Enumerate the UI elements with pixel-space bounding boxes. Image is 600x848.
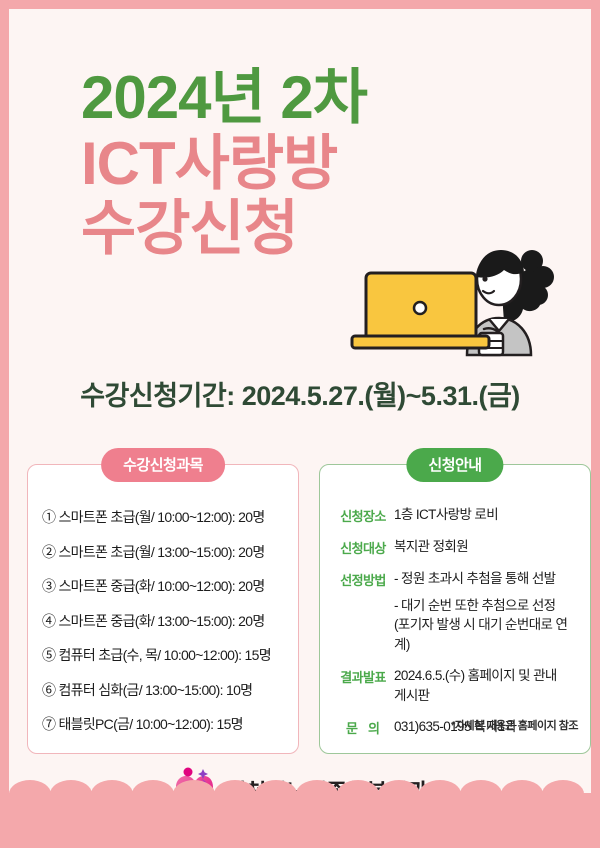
application-period: 수강신청기간: 2024.5.27.(월)~5.31.(금): [9, 374, 591, 413]
courses-panel: 수강신청과목 ① 스마트폰 초급(월/ 10:00~12:00): 20명 ② …: [27, 464, 299, 754]
info-row-target: 신청대상 복지관 정회원: [332, 537, 582, 557]
scallop-row: [9, 780, 591, 808]
info-panel-badge: 신청안내: [406, 448, 503, 482]
courses-panel-badge: 수강신청과목: [101, 448, 225, 482]
list-item: ③ 스마트폰 중급(화/ 10:00~12:00): 20명: [42, 576, 288, 596]
list-item: ⑦ 태블릿PC(금/ 10:00~12:00): 15명: [42, 714, 288, 734]
info-value: 1층 ICT사랑방 로비: [394, 505, 582, 525]
list-item: ④ 스마트폰 중급(화/ 13:00~15:00): 20명: [42, 611, 288, 631]
course-list: ① 스마트폰 초급(월/ 10:00~12:00): 20명 ② 스마트폰 초급…: [42, 507, 288, 749]
list-item: ⑤ 컴퓨터 초급(수, 목/ 10:00~12:00): 15명: [42, 645, 288, 665]
poster-inner: 2024년 2차 ICT사랑방 수강신청: [9, 9, 591, 839]
info-value-line: 복지관 정회원: [394, 539, 468, 554]
info-label: 문의: [332, 717, 394, 737]
info-label: 선정방법: [332, 569, 394, 654]
info-row-location: 신청장소 1층 ICT사랑방 로비: [332, 505, 582, 525]
info-value-line: - 대기 순번 또한 추첨으로 선정: [394, 596, 582, 616]
info-value-line: 1층 ICT사랑방 로비: [394, 507, 498, 522]
info-value: 2024.6.5.(수) 홈페이지 및 관내 게시판: [394, 666, 582, 705]
list-item: ② 스마트폰 초급(월/ 13:00~15:00): 20명: [42, 542, 288, 562]
info-label: 신청대상: [332, 537, 394, 557]
list-item: ① 스마트폰 초급(월/ 10:00~12:00): 20명: [42, 507, 288, 527]
info-value-line: (포기자 발생 시 대기 순번대로 연계): [394, 615, 582, 654]
corner-notch: [9, 15, 23, 43]
person-using-laptop-illustration: [349, 237, 571, 357]
headline: 2024년 2차 ICT사랑방 수강신청: [81, 69, 511, 258]
poster: 2024년 2차 ICT사랑방 수강신청: [0, 0, 600, 848]
info-value: 복지관 정회원: [394, 537, 582, 557]
headline-line-2: ICT사랑방: [81, 135, 511, 193]
info-row-selection: 선정방법 - 정원 초과시 추첨을 통해 선발 - 대기 순번 또한 추첨으로 …: [332, 569, 582, 654]
info-table: 신청장소 1층 ICT사랑방 로비 신청대상 복지관 정회원 선정방법 - 정원…: [332, 505, 582, 749]
list-item: ⑥ 컴퓨터 심화(금/ 13:00~15:00): 10명: [42, 680, 288, 700]
scallop-decoration: [9, 793, 591, 839]
info-value-line: - 정원 초과시 추첨을 통해 선발: [394, 569, 582, 589]
headline-line-1: 2024년 2차: [81, 69, 511, 127]
info-label: 결과발표: [332, 666, 394, 705]
info-footnote: *자세한 내용은 홈페이지 참조: [451, 717, 578, 733]
info-value-line: 게시판: [394, 686, 582, 706]
info-value: - 정원 초과시 추첨을 통해 선발 - 대기 순번 또한 추첨으로 선정 (포…: [394, 569, 582, 654]
info-value-line: 2024.6.5.(수) 홈페이지 및 관내: [394, 666, 582, 686]
info-label: 신청장소: [332, 505, 394, 525]
info-row-result: 결과발표 2024.6.5.(수) 홈페이지 및 관내 게시판: [332, 666, 582, 705]
info-panel: 신청안내 신청장소 1층 ICT사랑방 로비 신청대상 복지관 정회원 선정방법: [319, 464, 591, 754]
